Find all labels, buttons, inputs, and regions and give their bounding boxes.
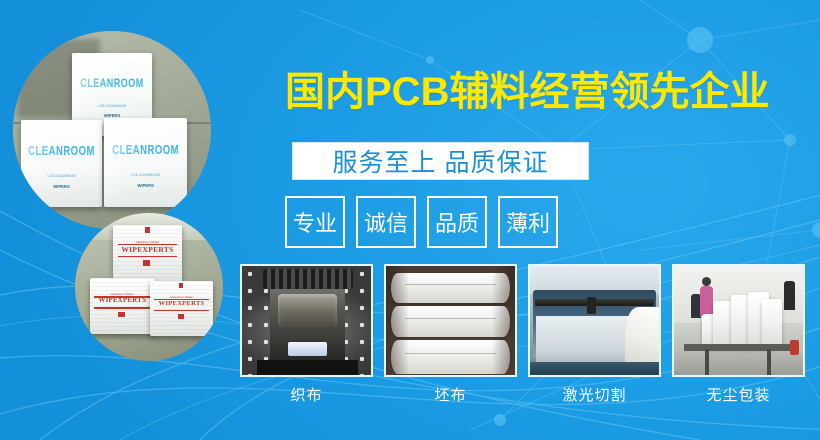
process-thumbnail-item[interactable]: 无尘包装 [672, 264, 805, 405]
thumbnail-caption: 坯布 [384, 384, 517, 405]
fabric-rolls-photo[interactable] [384, 264, 517, 377]
promo-banner: CLEANROOM LCD CLEANROOM WIPERS CLEANROOM… [0, 0, 820, 440]
pack-brand-text: WIPEXPERTS [116, 245, 179, 254]
feature-tag[interactable]: 薄利 [498, 196, 558, 248]
wipexperts-pack: Cleanroom Wiper WIPEXPERTS [113, 225, 181, 284]
cleanroom-packing-photo[interactable] [672, 264, 805, 377]
wipexperts-pack: Cleanroom Wiper WIPEXPERTS [150, 281, 212, 336]
process-thumbnail-item[interactable]: 激光切割 [528, 264, 661, 405]
pack-brand-text: WIPEXPERTS [92, 297, 152, 304]
feature-tag[interactable]: 专业 [285, 196, 345, 248]
cleanroom-pack: CLEANROOM LCD CLEANROOM WIPERS [104, 118, 187, 207]
cleanroom-pack: CLEANROOM LCD CLEANROOM WIPERS [21, 120, 102, 207]
process-thumbnail-list: 织布 坯布 激光切割 [240, 264, 805, 405]
product-photo-wipexperts: Cleanroom Wiper WIPEXPERTS Cleanroom Wip… [75, 213, 223, 361]
knitting-machine-photo[interactable] [240, 264, 373, 377]
slogan-box: 服务至上 品质保证 [292, 142, 589, 180]
laser-cutting-machine-photo[interactable] [528, 264, 661, 377]
feature-tag-list: 专业 诚信 品质 薄利 [285, 196, 558, 248]
pack-brand-text: WIPEXPERTS [153, 300, 210, 307]
process-thumbnail-item[interactable]: 坯布 [384, 264, 517, 405]
thumbnail-caption: 无尘包装 [672, 384, 805, 405]
thumbnail-caption: 激光切割 [528, 384, 661, 405]
banner-headline: 国内PCB辅料经营领先企业 [285, 72, 769, 112]
thumbnail-caption: 织布 [240, 384, 373, 405]
product-photo-cleanroom-wipers: CLEANROOM LCD CLEANROOM WIPERS CLEANROOM… [13, 31, 211, 229]
process-thumbnail-item[interactable]: 织布 [240, 264, 373, 405]
slogan-text: 服务至上 品质保证 [333, 143, 549, 179]
feature-tag[interactable]: 品质 [427, 196, 487, 248]
wipexperts-pack: Cleanroom Wiper WIPEXPERTS [90, 278, 155, 334]
feature-tag[interactable]: 诚信 [356, 196, 416, 248]
